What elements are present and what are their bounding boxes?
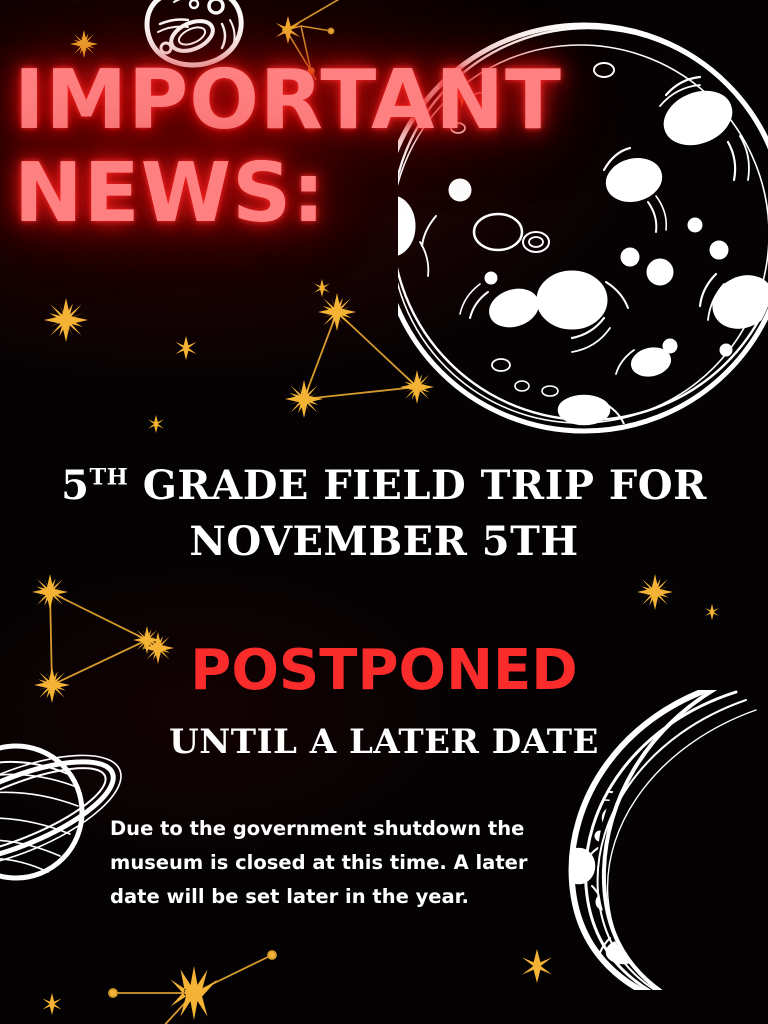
- body-paragraph: Due to the government shutdown the museu…: [110, 812, 542, 914]
- status-subtitle: UNTIL A LATER DATE: [0, 722, 768, 762]
- headline: IMPORTANT NEWS:: [14, 62, 634, 233]
- grade-line-rest: GRADE FIELD TRIP FOR: [128, 462, 707, 509]
- status-postponed: POSTPONED: [0, 638, 768, 703]
- grade-ordinal-suffix: TH: [90, 465, 129, 491]
- headline-line-2: NEWS:: [14, 155, 634, 234]
- constellation-top-star: [276, 16, 300, 44]
- announcement-grade-line: 5TH GRADE FIELD TRIP FOR: [0, 462, 768, 509]
- announcement-date-line: NOVEMBER 5TH: [0, 518, 768, 565]
- grade-number: 5: [61, 462, 89, 509]
- headline-line-1: IMPORTANT: [14, 53, 562, 148]
- poster-canvas: IMPORTANT NEWS: 5TH GRADE FIELD TRIP FOR…: [0, 0, 768, 1024]
- constellation-bottom: [109, 951, 276, 1024]
- constellation-triangle-center: [304, 312, 417, 399]
